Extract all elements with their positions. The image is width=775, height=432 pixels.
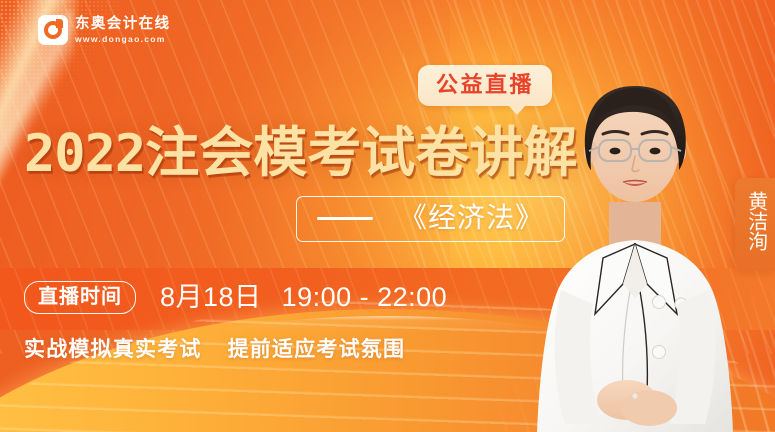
brand-url: www.dongao.com: [75, 35, 170, 44]
title-main: 注会模考试卷讲解: [145, 123, 577, 183]
brand-logo-text: 东奥会计在线 www.dongao.com: [75, 17, 170, 43]
brand-name: 东奥会计在线: [75, 17, 170, 32]
instructor-name-tab: 黄洁洵: [735, 178, 775, 271]
dongao-circle-logo-icon: [38, 15, 68, 45]
tagline-row: 实战模拟真实考试 提前适应考试氛围: [24, 339, 405, 360]
schedule-time: 19:00 - 22:00: [282, 284, 448, 311]
schedule-label: 直播时间: [24, 281, 136, 314]
tagline-part-1: 实战模拟真实考试: [24, 339, 202, 360]
tagline-part-2: 提前适应考试氛围: [228, 339, 406, 360]
instructor-name: 黄洁洵: [742, 191, 768, 251]
page-title: 2022注会模考试卷讲解: [24, 126, 577, 180]
title-year: 2022: [24, 124, 145, 184]
schedule-values: 8月18日 19:00 - 22:00: [160, 284, 447, 311]
schedule-row: 直播时间 8月18日 19:00 - 22:00: [24, 281, 447, 314]
instructor-portrait: [531, 52, 739, 432]
badge-label: 公益直播: [436, 74, 534, 96]
subtitle-text: 《经济法》: [399, 204, 544, 232]
subtitle-dash-icon: [317, 217, 373, 220]
subtitle-course: 《经济法》: [296, 196, 565, 242]
schedule-date: 8月18日: [160, 284, 262, 311]
live-stream-promo-banner: 东奥会计在线 www.dongao.com 公益直播 2022注会模考试卷讲解 …: [0, 0, 775, 432]
public-welfare-badge: 公益直播: [418, 65, 552, 106]
badge-bubble: 公益直播: [418, 65, 552, 106]
brand-logo[interactable]: 东奥会计在线 www.dongao.com: [38, 15, 170, 45]
